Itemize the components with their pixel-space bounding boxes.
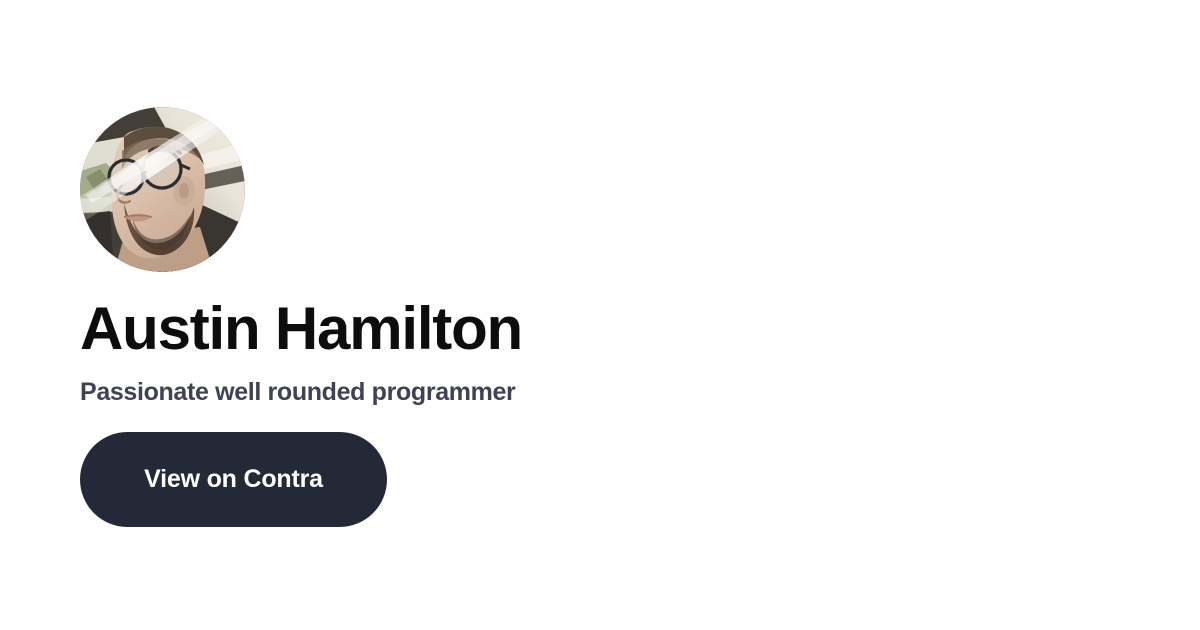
profile-tagline: Passionate well rounded programmer: [80, 376, 515, 408]
profile-preview-card: Austin Hamilton Passionate well rounded …: [0, 0, 1200, 630]
avatar: [80, 107, 245, 272]
view-on-contra-button[interactable]: View on Contra: [80, 432, 387, 527]
page-title: Austin Hamilton: [80, 298, 522, 360]
avatar-photo-icon: [80, 107, 245, 272]
